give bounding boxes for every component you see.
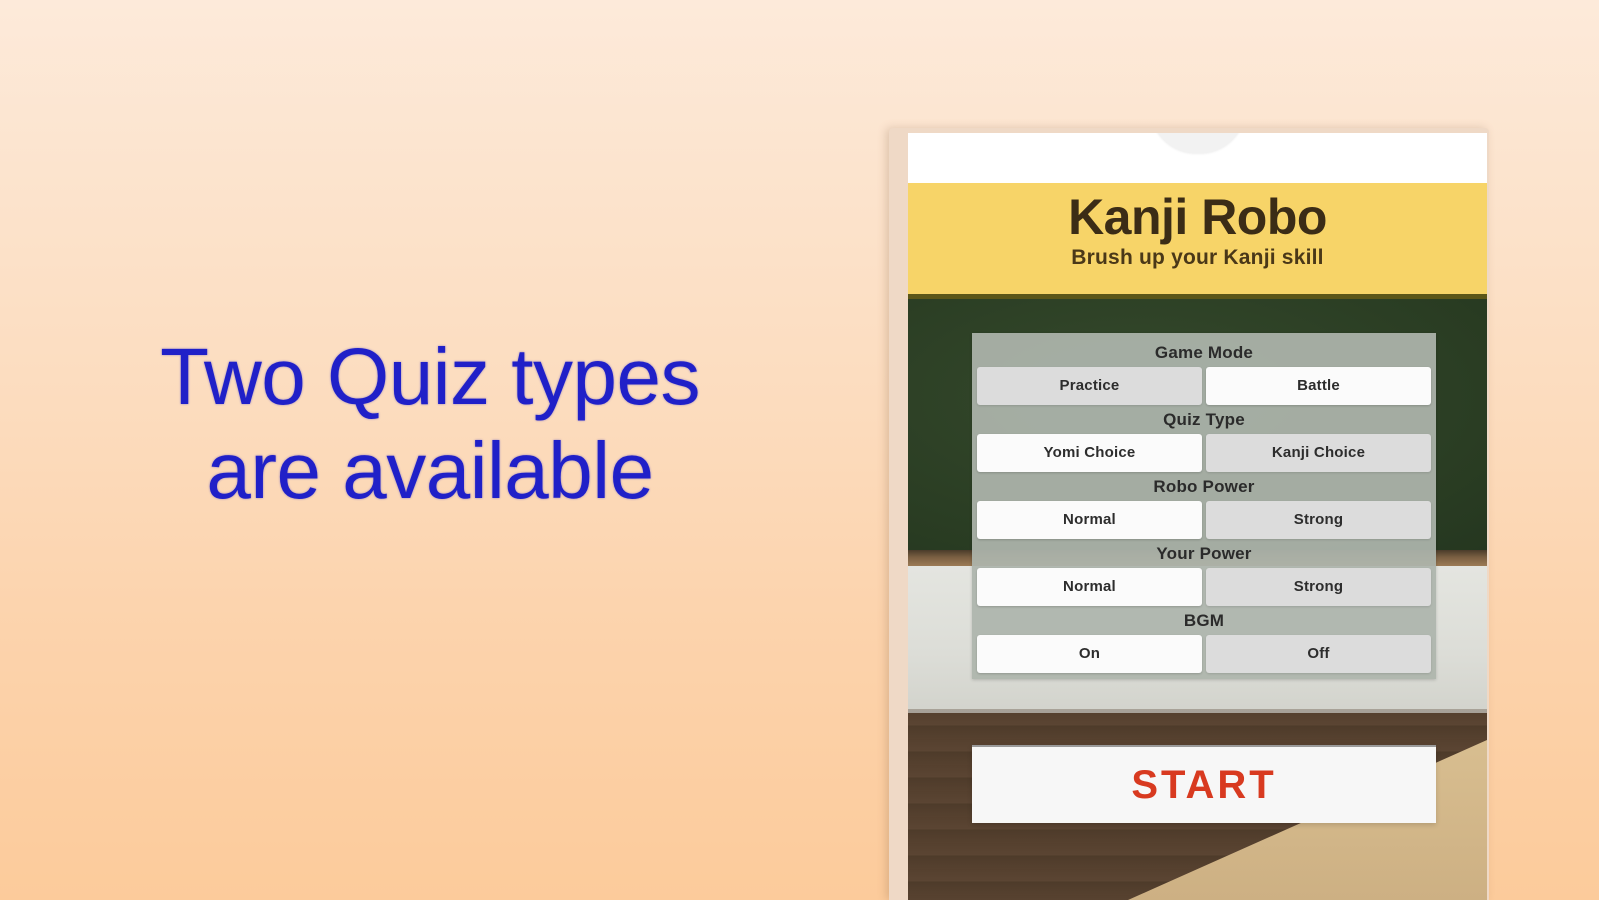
- option-button[interactable]: Practice: [977, 367, 1202, 405]
- app-title: Kanji Robo: [908, 191, 1487, 244]
- settings-option-row: NormalStrong: [972, 568, 1436, 606]
- blackboard-top-edge: [908, 294, 1487, 299]
- start-button-label: START: [1131, 763, 1276, 808]
- option-button[interactable]: Normal: [977, 501, 1202, 539]
- promo-line-1: Two Quiz types: [0, 330, 860, 424]
- app-header: Kanji Robo Brush up your Kanji skill: [908, 183, 1487, 294]
- settings-option-row: PracticeBattle: [972, 367, 1436, 405]
- option-button[interactable]: Off: [1206, 635, 1431, 673]
- promo-line-2: are available: [0, 424, 860, 518]
- option-button[interactable]: Strong: [1206, 501, 1431, 539]
- settings-group-label: Your Power: [972, 539, 1436, 568]
- settings-group-label: Robo Power: [972, 472, 1436, 501]
- option-button[interactable]: Battle: [1206, 367, 1431, 405]
- promo-text-block: Two Quiz types are available: [0, 330, 860, 519]
- phone-screen: Kanji Robo Brush up your Kanji skill Gam…: [908, 133, 1487, 900]
- settings-group-label: Game Mode: [972, 338, 1436, 367]
- settings-group-label: BGM: [972, 606, 1436, 635]
- option-button[interactable]: Yomi Choice: [977, 434, 1202, 472]
- settings-option-row: Yomi ChoiceKanji Choice: [972, 434, 1436, 472]
- phone-mockup: Kanji Robo Brush up your Kanji skill Gam…: [889, 128, 1489, 900]
- settings-panel: Game ModePracticeBattleQuiz TypeYomi Cho…: [972, 333, 1436, 679]
- option-button[interactable]: Kanji Choice: [1206, 434, 1431, 472]
- option-button[interactable]: On: [977, 635, 1202, 673]
- settings-option-row: NormalStrong: [972, 501, 1436, 539]
- start-button[interactable]: START: [972, 745, 1436, 823]
- option-button[interactable]: Strong: [1206, 568, 1431, 606]
- app-subtitle: Brush up your Kanji skill: [908, 246, 1487, 270]
- settings-group-label: Quiz Type: [972, 405, 1436, 434]
- settings-option-row: OnOff: [972, 635, 1436, 673]
- option-button[interactable]: Normal: [977, 568, 1202, 606]
